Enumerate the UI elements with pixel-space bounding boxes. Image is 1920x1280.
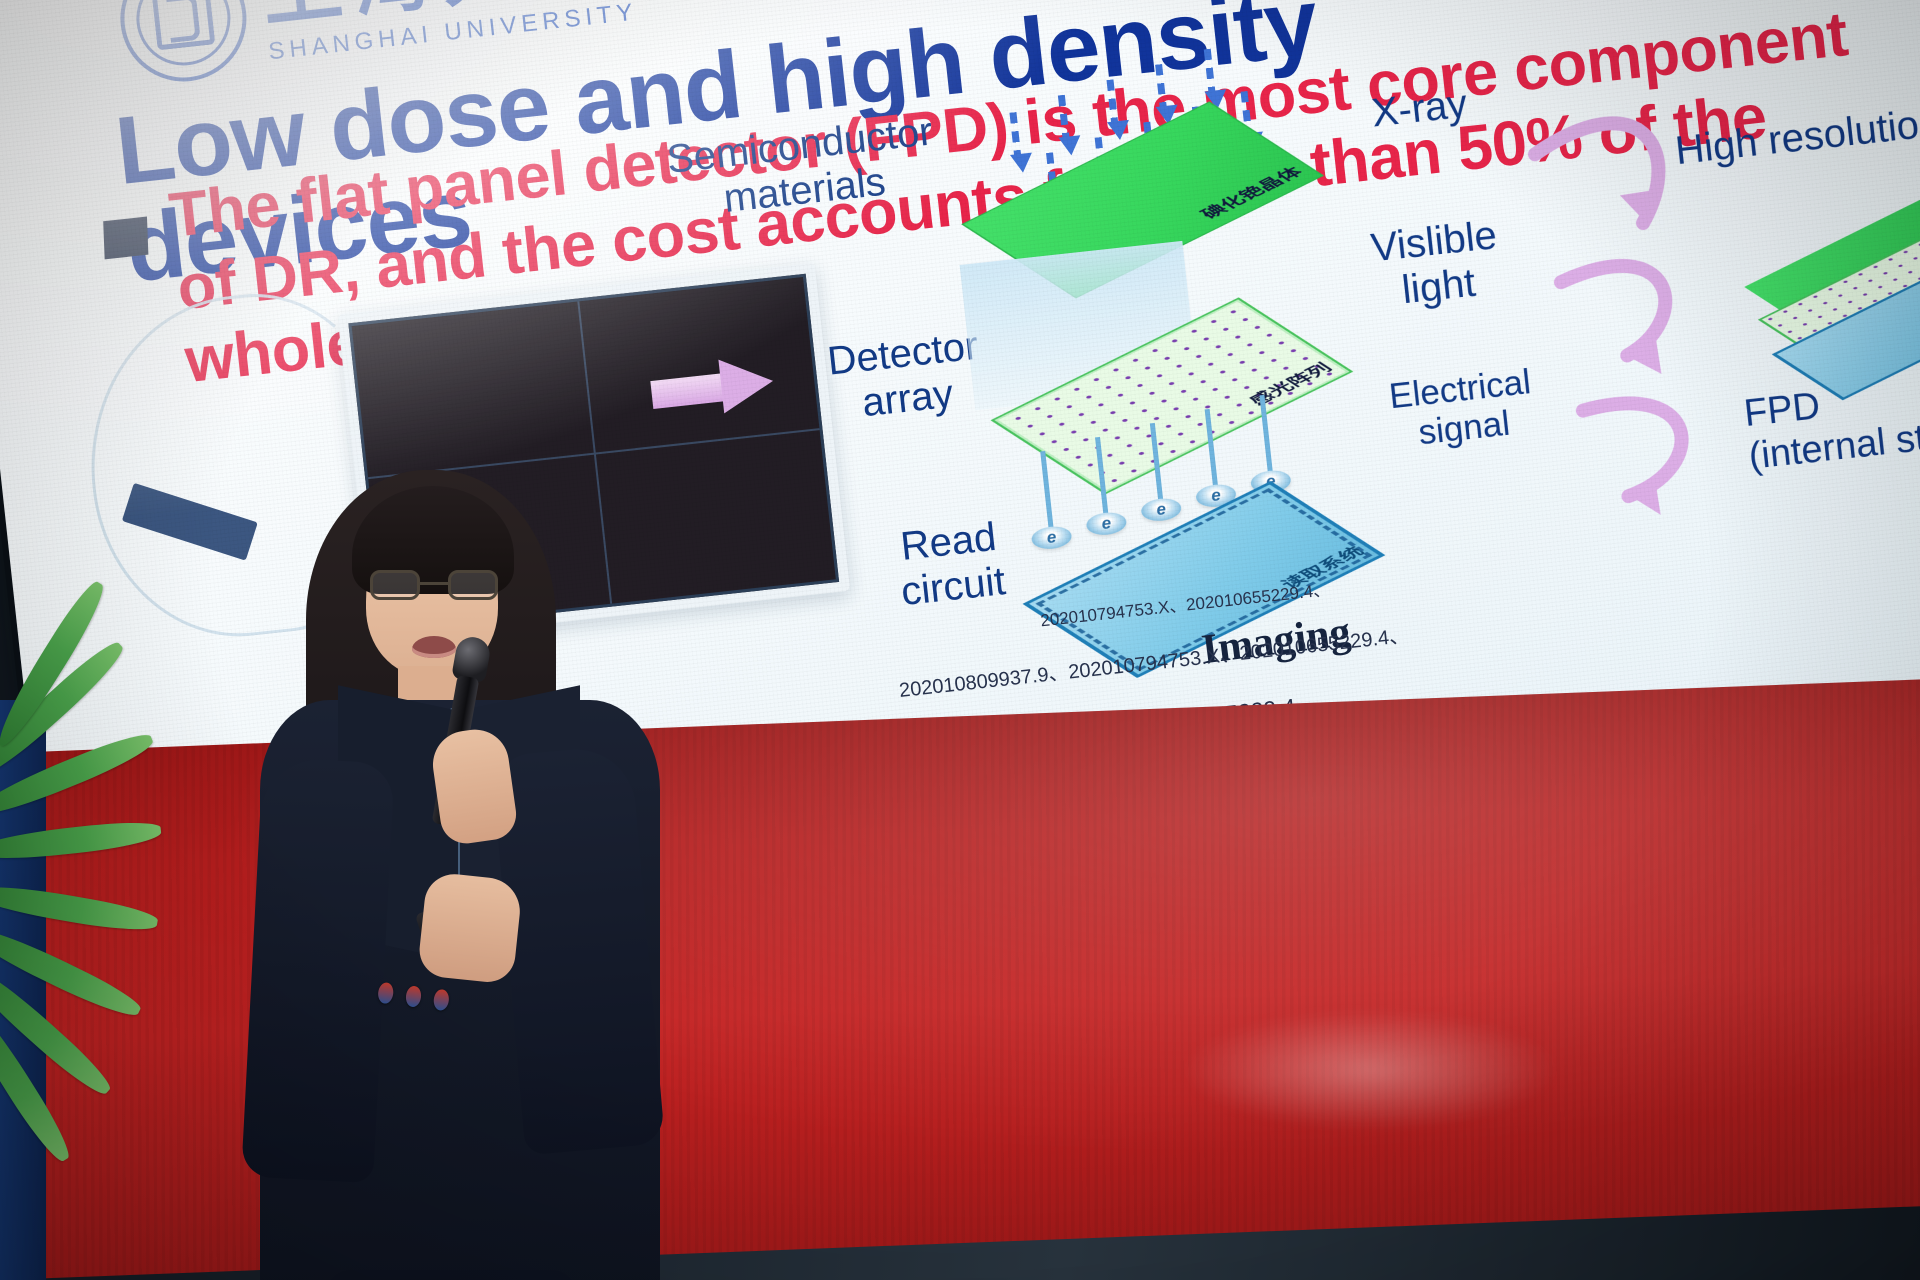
photodiode-array-label-cn: 感光阵列 xyxy=(1242,358,1337,408)
process-arrow-icon xyxy=(649,354,774,421)
trousers xyxy=(326,1270,576,1280)
fpd-internal-structure-graphic xyxy=(1742,177,1920,392)
arm-left xyxy=(241,757,395,1183)
electron-icon: e xyxy=(1085,511,1127,537)
mouth xyxy=(412,636,456,658)
floor-highlight xyxy=(1180,1010,1560,1130)
presenter xyxy=(246,430,676,1280)
potted-plant xyxy=(0,720,260,1140)
hand-holding-clicker xyxy=(417,871,523,984)
electron-icon: e xyxy=(1140,497,1182,523)
shanghai-university-seal-icon xyxy=(114,0,253,88)
glasses-icon xyxy=(370,570,498,600)
square-bullet-icon xyxy=(103,217,148,260)
photo-scene: 上海大学 SHANGHAI UNIVERSITY Low dose and hi… xyxy=(0,0,1920,1280)
